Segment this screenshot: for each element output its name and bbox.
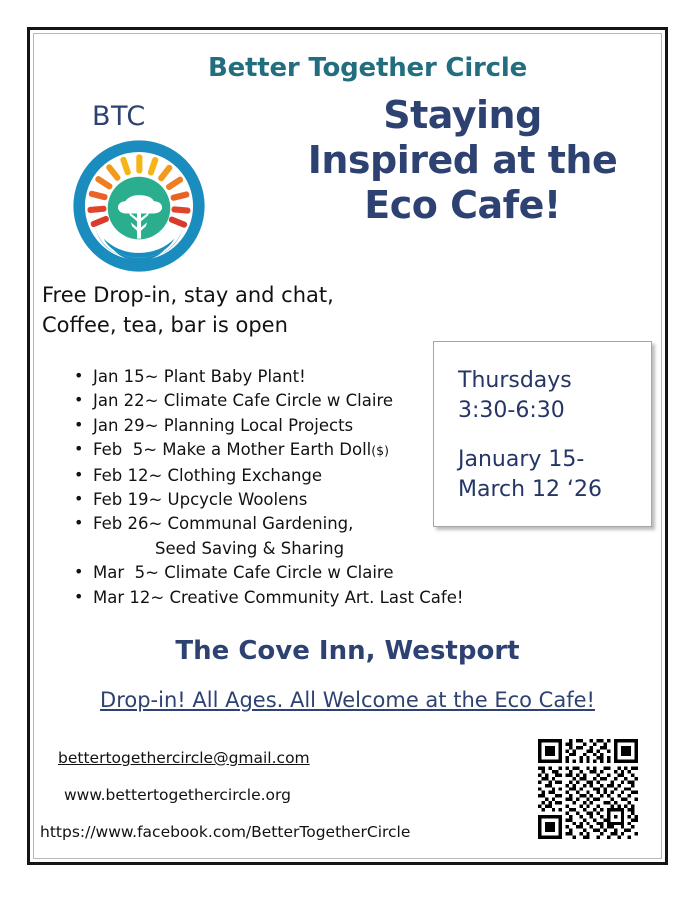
event-title: Upcycle Woolens	[168, 490, 308, 509]
list-item: •Mar 12~ Creative Community Art. Last Ca…	[65, 586, 485, 610]
event-title: Communal Gardening,	[168, 514, 354, 533]
venue-name: The Cove Inn, Westport	[35, 636, 660, 666]
bullet-icon: •	[74, 463, 83, 487]
event-date: Mar 5~	[93, 563, 159, 582]
event-schedule-list: •Jan 15~ Plant Baby Plant! •Jan 22~ Clim…	[65, 365, 485, 610]
list-item: •Jan 22~ Climate Cafe Circle w Claire	[65, 389, 485, 413]
welcome-message-text: Drop-in! All Ages. All Welcome at the Ec…	[100, 688, 595, 712]
intro-line-1: Free Drop-in, stay and chat,	[42, 280, 472, 310]
event-date: Jan 29~	[93, 416, 159, 435]
bullet-icon: •	[74, 388, 83, 412]
bullet-icon: •	[74, 413, 83, 437]
contact-website[interactable]: www.bettertogethercircle.org	[64, 786, 291, 804]
event-title: Plant Baby Plant!	[164, 367, 306, 386]
qr-code-icon[interactable]	[538, 739, 638, 839]
event-title: Planning Local Projects	[164, 416, 353, 435]
event-date: Feb 26~	[93, 514, 162, 533]
schedule-range-end: March 12 ‘26	[458, 475, 602, 505]
flyer-page: Better Together Circle BTC	[27, 27, 668, 865]
bullet-icon: •	[74, 364, 83, 388]
list-item: •Mar 5~ Climate Cafe Circle w Claire	[65, 561, 485, 585]
bullet-icon: •	[74, 437, 83, 461]
page-title-line-1: Staying	[275, 93, 650, 138]
list-item: •Feb 19~ Upcycle Woolens	[65, 488, 485, 512]
event-note: ($)	[371, 443, 389, 458]
schedule-days: Thursdays	[458, 366, 572, 396]
list-item: •Feb 26~ Communal Gardening,Seed Saving …	[65, 512, 485, 561]
btc-sunrise-tree-hands-logo	[71, 138, 207, 274]
event-title: Make a Mother Earth Doll	[162, 440, 371, 459]
list-item: •Jan 15~ Plant Baby Plant!	[65, 365, 485, 389]
event-date: Feb 12~	[93, 466, 162, 485]
bullet-icon: •	[74, 487, 83, 511]
list-item: •Feb 12~ Clothing Exchange	[65, 464, 485, 488]
event-title: Clothing Exchange	[168, 466, 323, 485]
contact-email[interactable]: bettertogethercircle@gmail.com	[58, 749, 310, 767]
organization-name: Better Together Circle	[35, 53, 660, 83]
btc-wordmark: BTC	[92, 101, 134, 132]
schedule-info-box: Thursdays 3:30-6:30 January 15- March 12…	[433, 341, 652, 527]
list-item: •Feb 5~ Make a Mother Earth Doll($)	[65, 438, 485, 463]
event-date: Jan 22~	[93, 391, 159, 410]
event-title: Climate Cafe Circle w Claire	[164, 391, 393, 410]
page-title-line-3: Eco Cafe!	[275, 183, 650, 228]
event-date: Feb 19~	[93, 490, 162, 509]
page-title: Staying Inspired at the Eco Cafe!	[275, 93, 650, 228]
bullet-icon: •	[74, 511, 83, 535]
bullet-icon: •	[74, 560, 83, 584]
contact-facebook-url[interactable]: https://www.facebook.com/BetterTogetherC…	[40, 823, 410, 841]
intro-text: Free Drop-in, stay and chat, Coffee, tea…	[42, 280, 472, 340]
event-title-continuation: Seed Saving & Sharing	[93, 537, 485, 561]
page-title-line-2: Inspired at the	[275, 138, 650, 183]
event-title: Creative Community Art. Last Cafe!	[169, 588, 463, 607]
bullet-icon: •	[74, 585, 83, 609]
list-item: •Jan 29~ Planning Local Projects	[65, 414, 485, 438]
event-date: Mar 12~	[93, 588, 164, 607]
event-title: Climate Cafe Circle w Claire	[164, 563, 393, 582]
event-date: Feb 5~	[93, 440, 157, 459]
intro-line-2: Coffee, tea, bar is open	[42, 310, 472, 340]
schedule-range-start: January 15-	[458, 445, 584, 475]
schedule-time: 3:30-6:30	[458, 396, 565, 426]
welcome-message: Drop-in! All Ages. All Welcome at the Ec…	[35, 688, 660, 712]
event-date: Jan 15~	[93, 367, 159, 386]
